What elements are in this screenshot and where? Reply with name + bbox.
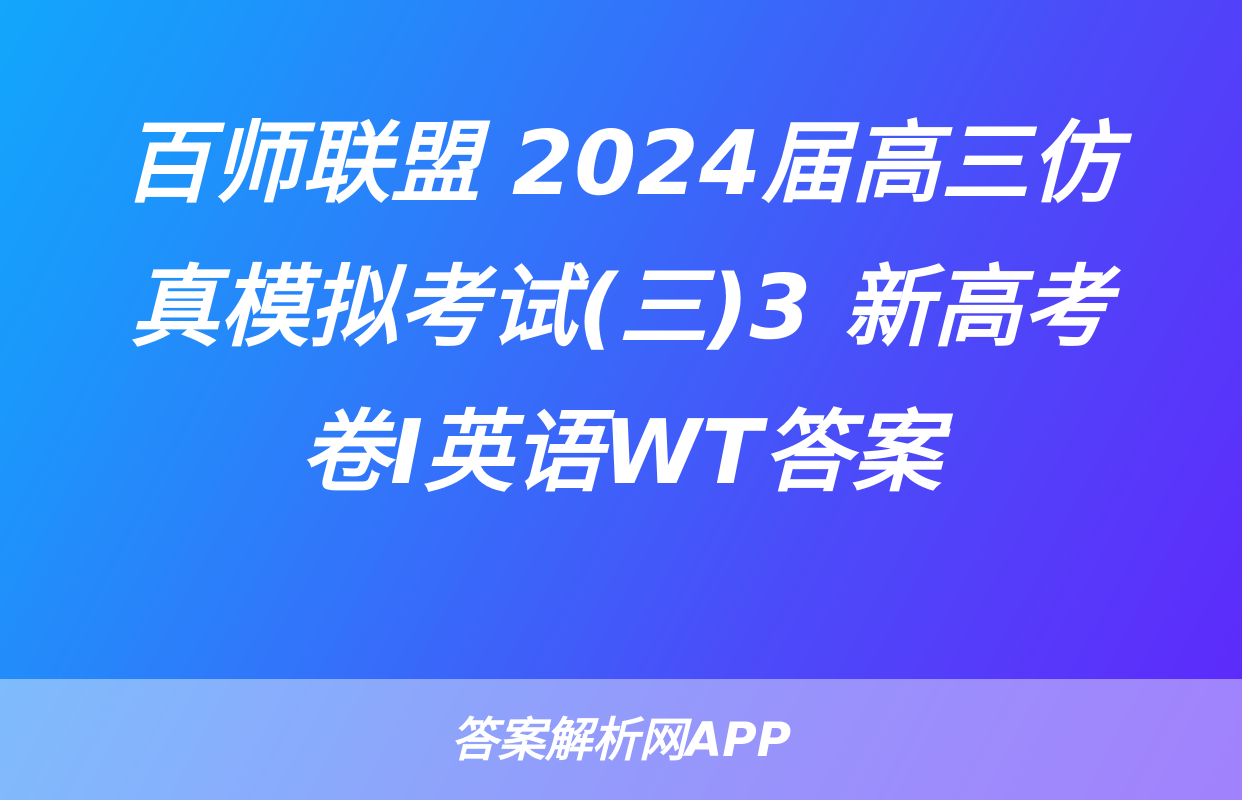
title-area: 百师联盟 2024届高三仿 真模拟考试(三)3 新高考 卷Ⅰ英语WT答案 — [0, 0, 1242, 679]
watermark-label: 答案解析网APP — [451, 717, 791, 764]
page-title: 百师联盟 2024届高三仿 真模拟考试(三)3 新高考 卷Ⅰ英语WT答案 — [36, 91, 1206, 524]
watermark-band: 答案解析网APP — [0, 679, 1242, 800]
cover-card: 百师联盟 2024届高三仿 真模拟考试(三)3 新高考 卷Ⅰ英语WT答案 答案解… — [0, 0, 1242, 800]
